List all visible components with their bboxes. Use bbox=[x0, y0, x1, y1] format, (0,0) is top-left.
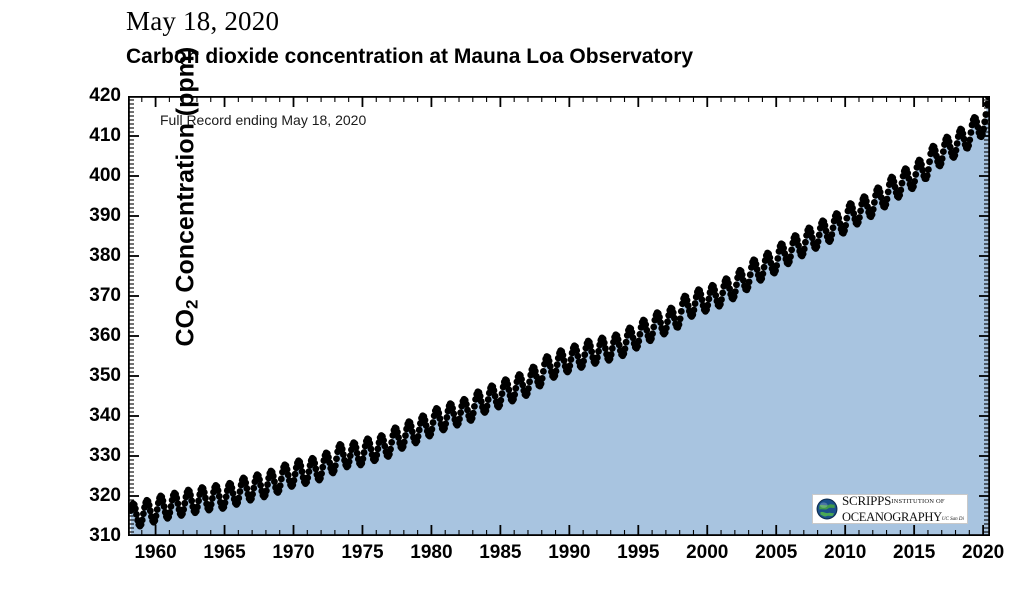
data-point bbox=[485, 396, 492, 403]
data-point bbox=[830, 224, 837, 231]
data-point bbox=[759, 270, 766, 277]
data-point bbox=[202, 495, 209, 502]
data-point bbox=[354, 450, 361, 457]
data-point bbox=[450, 410, 457, 417]
data-point bbox=[381, 443, 388, 450]
data-point bbox=[726, 285, 733, 292]
data-point bbox=[843, 215, 850, 222]
y-tick-label: 410 bbox=[89, 125, 121, 147]
data-point bbox=[870, 206, 877, 213]
data-point bbox=[940, 148, 947, 155]
data-point bbox=[387, 446, 394, 453]
data-point bbox=[140, 510, 147, 517]
data-point bbox=[277, 482, 284, 489]
data-point bbox=[676, 321, 683, 328]
data-point bbox=[456, 416, 463, 423]
data-point bbox=[470, 410, 477, 417]
data-point bbox=[774, 255, 781, 262]
data-point bbox=[623, 339, 630, 346]
data-point bbox=[649, 330, 656, 337]
data-point bbox=[430, 419, 437, 426]
data-point bbox=[947, 144, 954, 151]
data-point bbox=[243, 485, 250, 492]
data-point bbox=[594, 354, 601, 361]
data-point bbox=[924, 172, 931, 179]
data-point bbox=[802, 239, 809, 246]
data-point bbox=[318, 470, 325, 477]
data-point bbox=[333, 455, 340, 462]
data-point bbox=[380, 437, 387, 444]
data-point bbox=[602, 345, 609, 352]
data-point bbox=[264, 481, 271, 488]
x-tick-label: 2005 bbox=[755, 542, 797, 564]
data-point bbox=[285, 472, 292, 479]
data-point bbox=[292, 471, 299, 478]
data-point bbox=[795, 242, 802, 249]
data-point bbox=[635, 338, 642, 345]
data-point bbox=[492, 393, 499, 400]
data-point bbox=[622, 345, 629, 352]
data-point bbox=[809, 234, 816, 241]
data-point bbox=[671, 315, 678, 322]
chart-svg bbox=[128, 96, 990, 536]
data-point bbox=[595, 348, 602, 355]
data-point bbox=[704, 302, 711, 309]
data-point bbox=[601, 339, 608, 346]
data-point bbox=[884, 196, 891, 203]
data-point bbox=[691, 307, 698, 314]
data-point bbox=[705, 296, 712, 303]
data-point bbox=[173, 495, 180, 502]
data-point bbox=[230, 490, 237, 497]
data-point bbox=[733, 281, 740, 288]
area-fill bbox=[131, 97, 988, 536]
y-tick-label: 330 bbox=[89, 445, 121, 467]
y-tick-label: 390 bbox=[89, 205, 121, 227]
keeling-curve-chart-page: May 18, 2020 Carbon dioxide concentratio… bbox=[0, 0, 1024, 591]
x-tick-label: 1990 bbox=[548, 542, 590, 564]
data-point bbox=[160, 497, 167, 504]
data-point bbox=[499, 390, 506, 397]
data-point bbox=[574, 353, 581, 360]
data-point bbox=[961, 136, 968, 143]
data-point bbox=[732, 288, 739, 295]
data-point bbox=[919, 167, 926, 174]
data-point bbox=[373, 452, 380, 459]
logo-line-one: SCRIPPSINSTITUTION OF bbox=[842, 494, 964, 509]
data-point bbox=[437, 415, 444, 422]
data-point bbox=[215, 487, 222, 494]
data-point bbox=[512, 385, 519, 392]
data-point bbox=[237, 488, 244, 495]
data-point bbox=[678, 308, 685, 315]
y-tick-label: 420 bbox=[89, 85, 121, 107]
data-point bbox=[216, 493, 223, 500]
data-point bbox=[484, 403, 491, 410]
data-point bbox=[609, 345, 616, 352]
data-point bbox=[616, 342, 623, 349]
data-point bbox=[892, 184, 899, 191]
data-point bbox=[823, 228, 830, 235]
data-point bbox=[291, 477, 298, 484]
data-point bbox=[388, 439, 395, 446]
data-point bbox=[519, 382, 526, 389]
logo-institution-text: INSTITUTION OF bbox=[891, 498, 945, 505]
data-point bbox=[561, 357, 568, 364]
data-point bbox=[568, 356, 575, 363]
data-point bbox=[428, 426, 435, 433]
data-point bbox=[719, 289, 726, 296]
data-point bbox=[608, 351, 615, 358]
data-point bbox=[746, 278, 753, 285]
data-point bbox=[416, 427, 423, 434]
x-tick-label: 2020 bbox=[962, 542, 1004, 564]
data-point bbox=[166, 509, 173, 516]
data-point bbox=[312, 465, 319, 472]
data-point bbox=[663, 325, 670, 332]
data-point bbox=[146, 502, 153, 509]
data-point bbox=[497, 397, 504, 404]
data-point bbox=[788, 246, 795, 253]
data-point bbox=[664, 318, 671, 325]
x-tick-label: 1980 bbox=[410, 542, 452, 564]
data-point bbox=[235, 495, 242, 502]
data-point bbox=[871, 199, 878, 206]
data-point bbox=[256, 476, 263, 483]
data-point bbox=[926, 158, 933, 165]
data-point bbox=[374, 445, 381, 452]
data-point bbox=[401, 439, 408, 446]
data-point bbox=[580, 358, 587, 365]
y-tick-label: 310 bbox=[89, 525, 121, 547]
data-point bbox=[409, 428, 416, 435]
data-point bbox=[526, 378, 533, 385]
data-point bbox=[263, 487, 270, 494]
data-point bbox=[222, 499, 229, 506]
data-point bbox=[912, 171, 919, 178]
data-point bbox=[332, 462, 339, 469]
data-point bbox=[174, 500, 181, 507]
data-point bbox=[209, 495, 216, 502]
data-point bbox=[899, 180, 906, 187]
data-point bbox=[306, 468, 313, 475]
y-tick-label: 350 bbox=[89, 365, 121, 387]
data-point bbox=[271, 478, 278, 485]
data-point bbox=[643, 327, 650, 334]
data-point bbox=[304, 474, 311, 481]
data-point bbox=[187, 492, 194, 499]
x-tick-label: 2015 bbox=[893, 542, 935, 564]
y-axis-title: CO2 Concentration (ppm) bbox=[172, 97, 203, 347]
data-point bbox=[828, 231, 835, 238]
data-point bbox=[361, 449, 368, 456]
data-point bbox=[801, 246, 808, 253]
data-point bbox=[270, 473, 277, 480]
x-tick-label: 2000 bbox=[686, 542, 728, 564]
data-point bbox=[692, 300, 699, 307]
page-title: Carbon dioxide concentration at Mauna Lo… bbox=[126, 45, 693, 69]
data-point bbox=[718, 296, 725, 303]
data-point bbox=[925, 166, 932, 173]
data-point bbox=[699, 296, 706, 303]
x-tick-label: 1985 bbox=[479, 542, 521, 564]
data-point bbox=[347, 452, 354, 459]
data-point bbox=[319, 464, 326, 471]
data-point bbox=[773, 262, 780, 269]
data-point bbox=[415, 433, 422, 440]
data-point bbox=[139, 517, 146, 524]
data-point bbox=[491, 387, 498, 394]
data-point bbox=[815, 238, 822, 245]
x-tick-label: 1975 bbox=[341, 542, 383, 564]
data-point bbox=[249, 491, 256, 498]
scripps-logo: SCRIPPSINSTITUTION OF OCEANOGRAPHYUC San… bbox=[812, 494, 968, 524]
data-point bbox=[257, 482, 264, 489]
data-point bbox=[471, 403, 478, 410]
y-tick-label: 400 bbox=[89, 165, 121, 187]
data-point bbox=[897, 187, 904, 194]
data-point bbox=[939, 155, 946, 162]
data-point bbox=[402, 432, 409, 439]
y-tick-label: 320 bbox=[89, 485, 121, 507]
y-tick-label: 360 bbox=[89, 325, 121, 347]
data-point bbox=[147, 507, 154, 514]
data-point bbox=[954, 140, 961, 147]
logo-scripps-text: SCRIPPS bbox=[842, 494, 891, 508]
data-point bbox=[133, 511, 140, 518]
data-point bbox=[911, 178, 918, 185]
x-tick-label: 1965 bbox=[203, 542, 245, 564]
data-point bbox=[712, 292, 719, 299]
logo-ucsd-text: UC San Diego bbox=[942, 517, 964, 522]
data-point bbox=[511, 391, 518, 398]
data-point bbox=[346, 458, 353, 465]
data-point bbox=[539, 375, 546, 382]
data-point bbox=[194, 504, 201, 511]
data-point bbox=[637, 331, 644, 338]
data-point bbox=[250, 485, 257, 492]
x-tick-label: 1970 bbox=[272, 542, 314, 564]
data-point bbox=[505, 386, 512, 393]
data-point bbox=[740, 277, 747, 284]
data-point bbox=[463, 401, 470, 408]
data-point bbox=[223, 493, 230, 500]
data-point bbox=[885, 188, 892, 195]
data-point bbox=[299, 468, 306, 475]
data-point bbox=[573, 347, 580, 354]
data-point bbox=[677, 315, 684, 322]
data-point bbox=[857, 207, 864, 214]
data-point bbox=[208, 501, 215, 508]
data-point bbox=[581, 351, 588, 358]
y-axis-subscript: 2 bbox=[183, 300, 202, 309]
plot-area: Full Record ending May 18, 2020 CO2 Conc… bbox=[128, 96, 990, 536]
logo-line-two: OCEANOGRAPHYUC San Diego bbox=[842, 509, 964, 524]
x-tick-label: 1960 bbox=[134, 542, 176, 564]
data-point bbox=[850, 210, 857, 217]
data-point bbox=[297, 462, 304, 469]
x-tick-label: 1995 bbox=[617, 542, 659, 564]
data-point bbox=[787, 253, 794, 260]
y-tick-label: 340 bbox=[89, 405, 121, 427]
data-point bbox=[353, 444, 360, 451]
y-tick-label: 370 bbox=[89, 285, 121, 307]
data-point bbox=[842, 222, 849, 229]
data-point bbox=[553, 368, 560, 375]
data-point bbox=[464, 407, 471, 414]
data-point bbox=[340, 451, 347, 458]
data-point bbox=[965, 142, 972, 149]
data-point bbox=[966, 136, 973, 143]
data-point bbox=[278, 476, 285, 483]
data-point bbox=[953, 147, 960, 154]
data-point bbox=[657, 319, 664, 326]
data-point bbox=[554, 361, 561, 368]
data-point bbox=[188, 497, 195, 504]
globe-icon bbox=[816, 498, 838, 520]
data-point bbox=[518, 376, 525, 383]
data-point bbox=[761, 264, 768, 271]
logo-wordmark: SCRIPPSINSTITUTION OF OCEANOGRAPHYUC San… bbox=[842, 494, 964, 524]
data-point bbox=[980, 126, 987, 133]
data-point bbox=[201, 489, 208, 496]
data-point bbox=[360, 455, 367, 462]
data-point bbox=[181, 500, 188, 507]
data-point bbox=[154, 506, 161, 513]
data-point bbox=[525, 385, 532, 392]
date-title: May 18, 2020 bbox=[126, 6, 279, 37]
data-point bbox=[650, 324, 657, 331]
data-point bbox=[747, 271, 754, 278]
data-point bbox=[566, 362, 573, 369]
data-point bbox=[132, 505, 139, 512]
data-point bbox=[816, 232, 823, 239]
data-point bbox=[180, 506, 187, 513]
data-point bbox=[168, 503, 175, 510]
data-point bbox=[540, 368, 547, 375]
data-point bbox=[161, 503, 168, 510]
data-point bbox=[588, 348, 595, 355]
data-point bbox=[442, 420, 449, 427]
data-point bbox=[457, 409, 464, 416]
data-point bbox=[630, 334, 637, 341]
data-point bbox=[195, 497, 202, 504]
data-point bbox=[153, 512, 160, 519]
data-point bbox=[311, 460, 318, 467]
y-tick-label: 380 bbox=[89, 245, 121, 267]
data-point bbox=[443, 414, 450, 421]
data-point bbox=[968, 129, 975, 136]
data-point bbox=[242, 479, 249, 486]
data-point bbox=[587, 343, 594, 350]
data-point bbox=[856, 214, 863, 221]
x-tick-label: 2010 bbox=[824, 542, 866, 564]
logo-oceanography-text: OCEANOGRAPHY bbox=[842, 510, 942, 524]
data-point bbox=[368, 446, 375, 453]
